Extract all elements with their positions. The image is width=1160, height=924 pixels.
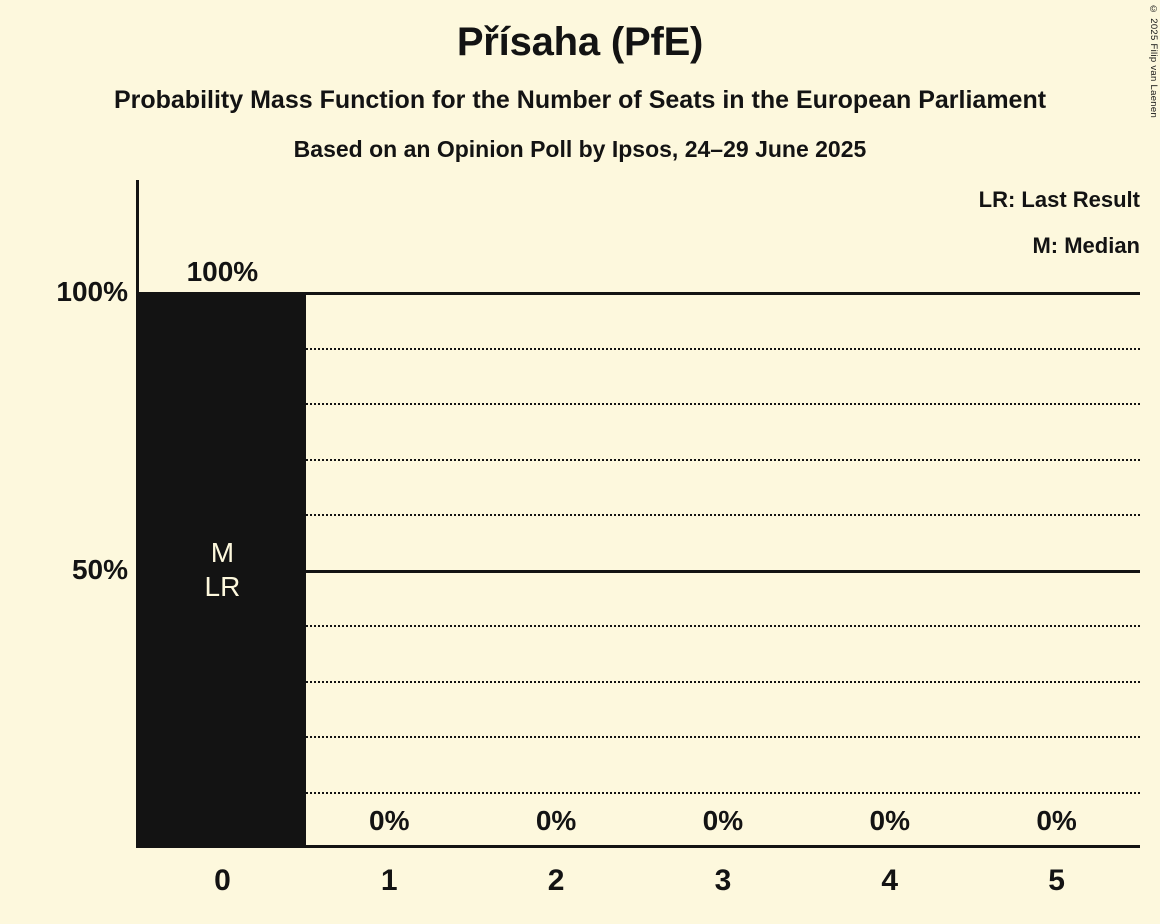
bar-slot[interactable]: 0% (473, 237, 640, 847)
y-axis-tick-label: 100% (8, 278, 128, 306)
chart-canvas: © 2025 Filip van Laenen Přísaha (PfE) Pr… (0, 0, 1160, 924)
y-axis-ticks: 100%50% (0, 237, 128, 847)
x-axis-tick-label: 5 (973, 866, 1140, 896)
median-marker: M (139, 536, 306, 570)
x-axis-tick-label: 2 (473, 866, 640, 896)
bar-slot[interactable]: 0% (640, 237, 807, 847)
bar-value-label: 0% (473, 807, 640, 835)
bar-value-label: 0% (973, 807, 1140, 835)
bar-slot[interactable]: 0% (973, 237, 1140, 847)
x-axis-tick-label: 4 (806, 866, 973, 896)
bar-value-label: 0% (806, 807, 973, 835)
bar-marker-labels: MLR (139, 536, 306, 604)
bar-value-label: 100% (139, 258, 306, 286)
bar-slot[interactable]: 0% (306, 237, 473, 847)
chart-source-note: Based on an Opinion Poll by Ipsos, 24–29… (0, 138, 1160, 161)
bar-slot[interactable]: 100%MLR (139, 237, 306, 847)
x-axis-tick-label: 3 (640, 866, 807, 896)
page-title: Přísaha (PfE) (0, 22, 1160, 62)
x-axis-labels: 012345 (139, 866, 1140, 916)
x-axis-tick-label: 0 (139, 866, 306, 896)
bar-slot[interactable]: 0% (806, 237, 973, 847)
x-axis-tick-label: 1 (306, 866, 473, 896)
last-result-marker: LR (139, 570, 306, 604)
legend-last-result: LR: Last Result (720, 187, 1140, 213)
chart-subtitle: Probability Mass Function for the Number… (0, 88, 1160, 113)
bar-series: 100%MLR0%0%0%0%0% (139, 237, 1140, 847)
bar-value-label: 0% (640, 807, 807, 835)
y-axis-tick-label: 50% (8, 556, 128, 584)
bar-value-label: 0% (306, 807, 473, 835)
